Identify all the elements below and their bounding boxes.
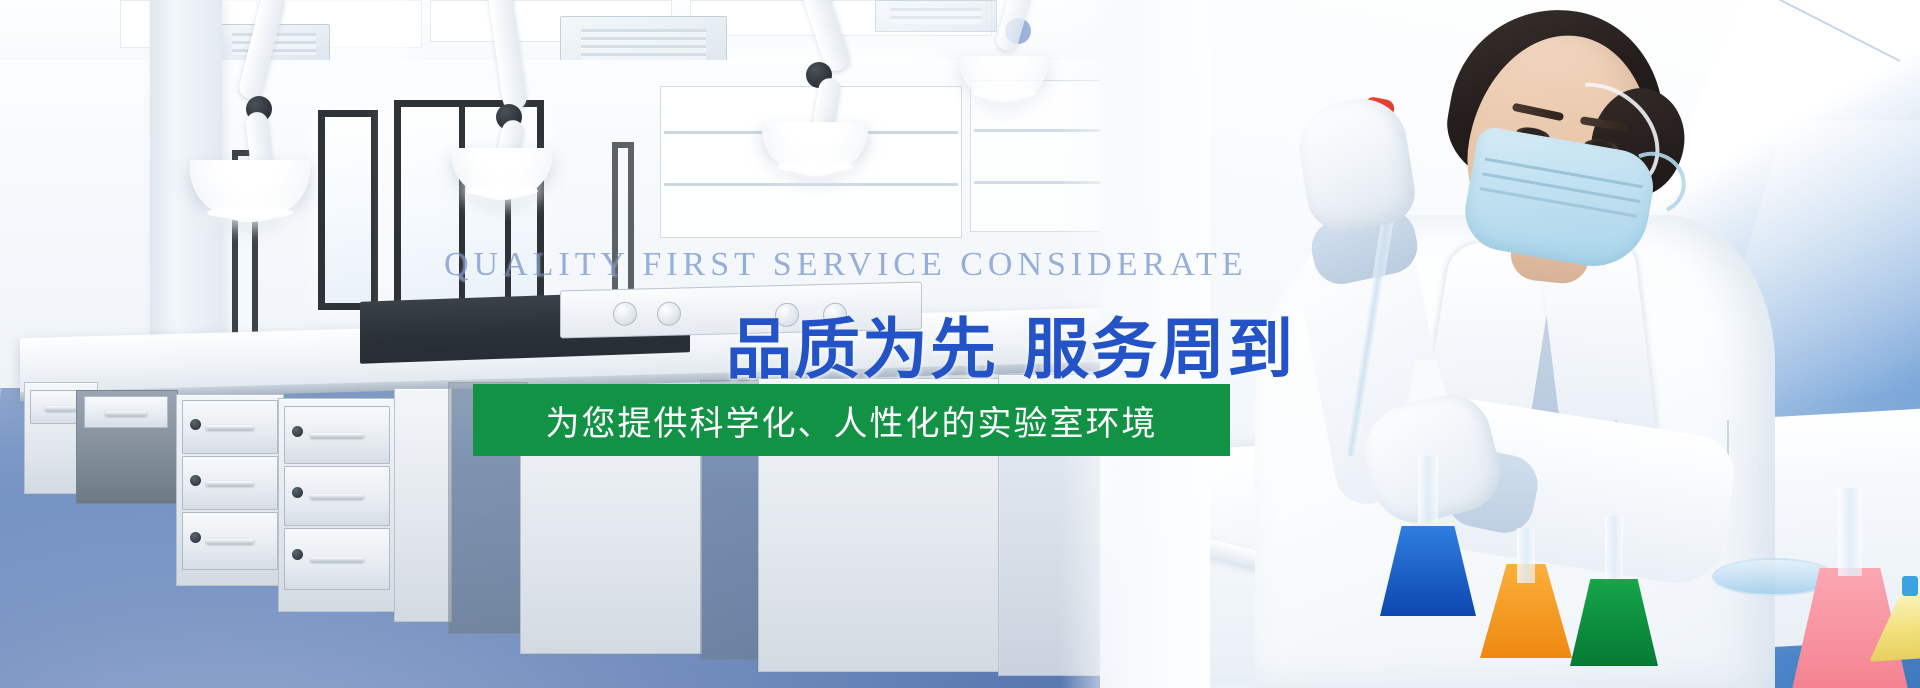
service-knob[interactable] [657,301,681,326]
drawer-handle[interactable] [310,557,364,562]
window [318,110,378,310]
drawer-handle[interactable] [206,481,255,486]
drawer-lock-icon [292,487,303,498]
test-tube [1902,576,1918,596]
drawer-handle[interactable] [206,539,255,544]
drawer-handle[interactable] [310,494,364,499]
drawer[interactable] [284,406,390,464]
drawer-lock-icon [190,532,201,543]
drawer-handle[interactable] [310,433,364,438]
drawer-handle[interactable] [45,406,76,411]
drawer[interactable] [182,512,278,570]
eyebrow-tagline: QUALITY FIRST SERVICE CONSIDERATE [444,246,1248,284]
flask-neck [1517,528,1535,583]
pendant-lamp [452,148,552,200]
ceiling-vent-icon [875,0,997,32]
hero-banner: QUALITY FIRST SERVICE CONSIDERATE 品质为先 服… [0,0,1920,688]
pendant-lamp [762,122,868,176]
headline: 品质为先 服务周到 [726,296,1295,392]
flask-neck [1838,488,1862,576]
bench-cabinet [394,388,452,622]
service-knob[interactable] [613,302,637,327]
latex-glove [1293,92,1420,235]
drawer[interactable] [182,400,278,454]
subtitle-text: 为您提供科学化、人性化的实验室环境 [546,396,1158,445]
drawer[interactable] [84,396,168,428]
drawer-lock-icon [292,549,303,560]
drawer[interactable] [182,456,278,510]
drawer-lock-icon [190,475,201,486]
drawer[interactable] [284,466,390,526]
drawer[interactable] [284,528,390,590]
drawer-handle[interactable] [105,411,148,416]
drawer-lock-icon [190,419,201,430]
subtitle-banner: 为您提供科学化、人性化的实验室环境 [473,384,1230,456]
flask-neck [1418,456,1437,523]
drawer-lock-icon [292,426,303,437]
shelf [664,183,958,186]
pendant-lamp [190,160,310,222]
flask-neck [1605,516,1623,579]
drawer-handle[interactable] [206,425,255,430]
